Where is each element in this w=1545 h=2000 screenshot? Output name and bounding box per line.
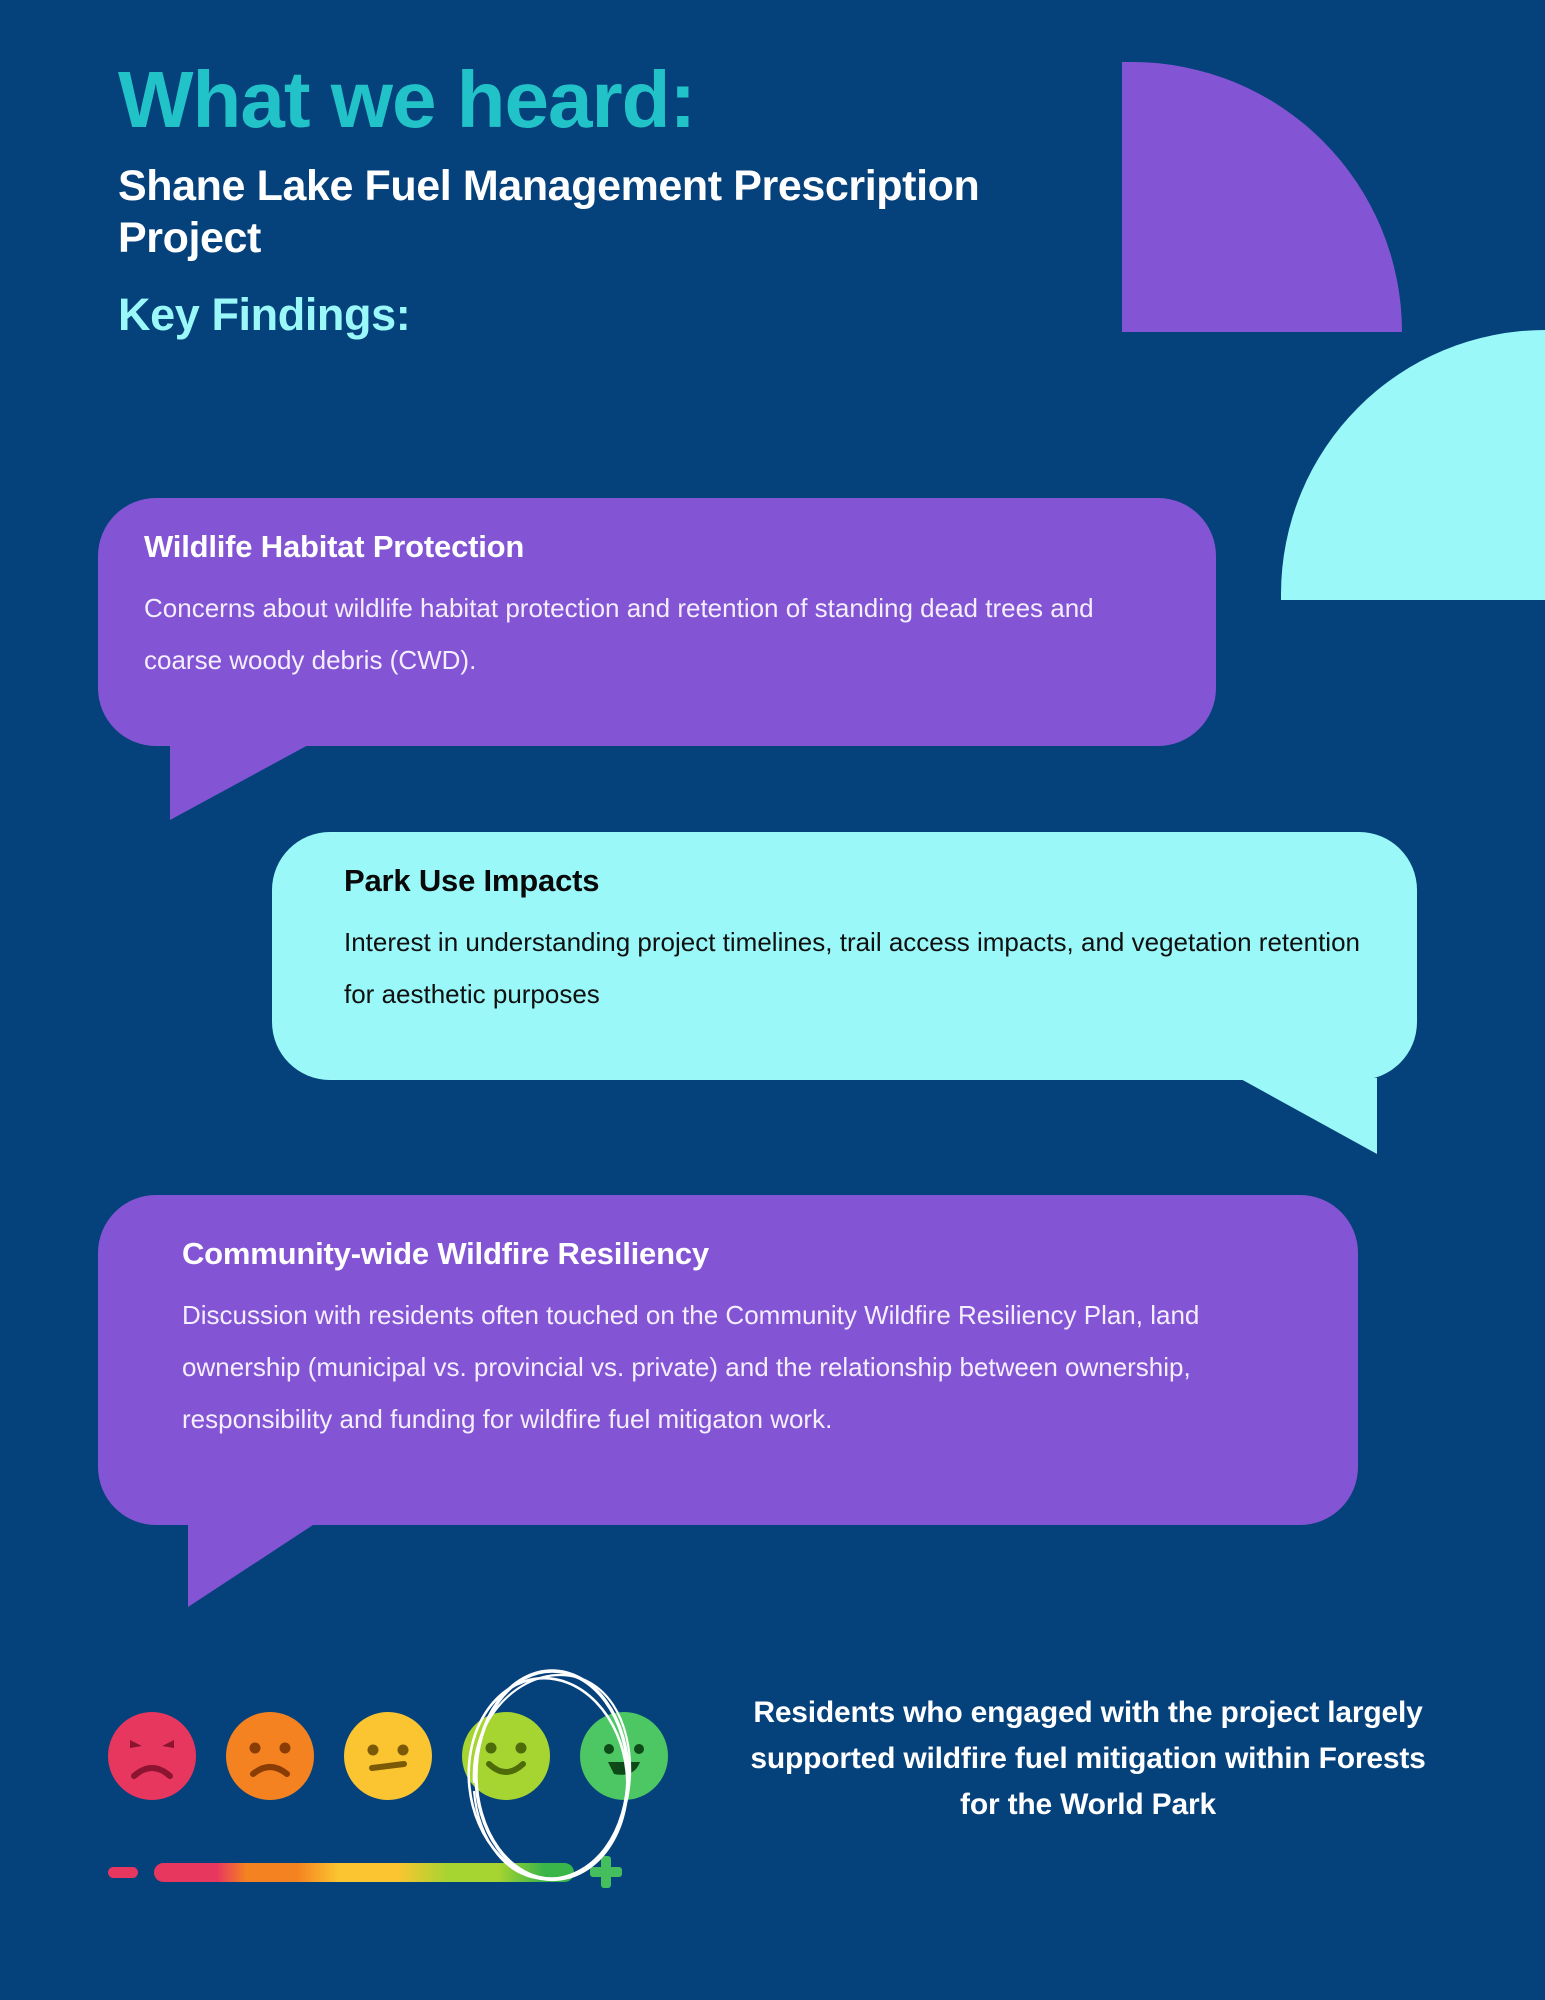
finding-bubble-community-wide-wildfire-resiliency: Community-wide Wildfire Resiliency Discu… xyxy=(98,1195,1358,1525)
face-row xyxy=(108,1712,708,1824)
neutral-face-icon[interactable] xyxy=(344,1712,432,1800)
finding-text: Interest in understanding project timeli… xyxy=(344,916,1371,1020)
finding-text: Discussion with residents often touched … xyxy=(182,1289,1312,1445)
sad-face-icon[interactable] xyxy=(226,1712,314,1800)
finding-heading: Community-wide Wildfire Resiliency xyxy=(182,1235,1312,1273)
finding-bubble-wildlife-habitat-protection: Wildlife Habitat Protection Concerns abo… xyxy=(98,498,1216,746)
speech-bubble-tail xyxy=(170,744,310,820)
happy-face-icon[interactable] xyxy=(462,1712,550,1800)
speech-bubble-tail xyxy=(1239,1078,1377,1154)
header-block: What we heard: Shane Lake Fuel Managemen… xyxy=(118,58,1178,340)
finding-heading: Park Use Impacts xyxy=(344,862,1371,900)
finding-text: Concerns about wildlife habitat protecti… xyxy=(144,582,1170,686)
conclusion-statement: Residents who engaged with the project l… xyxy=(748,1690,1428,1828)
poster-canvas: What we heard: Shane Lake Fuel Managemen… xyxy=(0,0,1545,2000)
gradient-scale-bar[interactable] xyxy=(154,1863,574,1882)
cyan-quarter-circle-decoration xyxy=(1281,330,1545,600)
finding-bubble-park-use-impacts: Park Use Impacts Interest in understandi… xyxy=(272,832,1417,1080)
angry-face-icon[interactable] xyxy=(108,1712,196,1800)
page-title: What we heard: xyxy=(118,58,1178,142)
bubble-body: Park Use Impacts Interest in understandi… xyxy=(272,832,1417,1080)
very-happy-face-icon[interactable] xyxy=(580,1712,668,1800)
scale-bar-row[interactable] xyxy=(108,1860,668,1884)
section-heading-key-findings: Key Findings: xyxy=(118,290,1178,340)
plus-indicator xyxy=(590,1855,624,1889)
bubble-body: Community-wide Wildfire Resiliency Discu… xyxy=(98,1195,1358,1525)
bubble-body: Wildlife Habitat Protection Concerns abo… xyxy=(98,498,1216,746)
speech-bubble-tail xyxy=(188,1523,316,1607)
satisfaction-scale[interactable] xyxy=(108,1712,708,1912)
page-subtitle: Shane Lake Fuel Management Prescription … xyxy=(118,160,1128,264)
minus-indicator xyxy=(108,1867,138,1878)
finding-heading: Wildlife Habitat Protection xyxy=(144,528,1170,566)
